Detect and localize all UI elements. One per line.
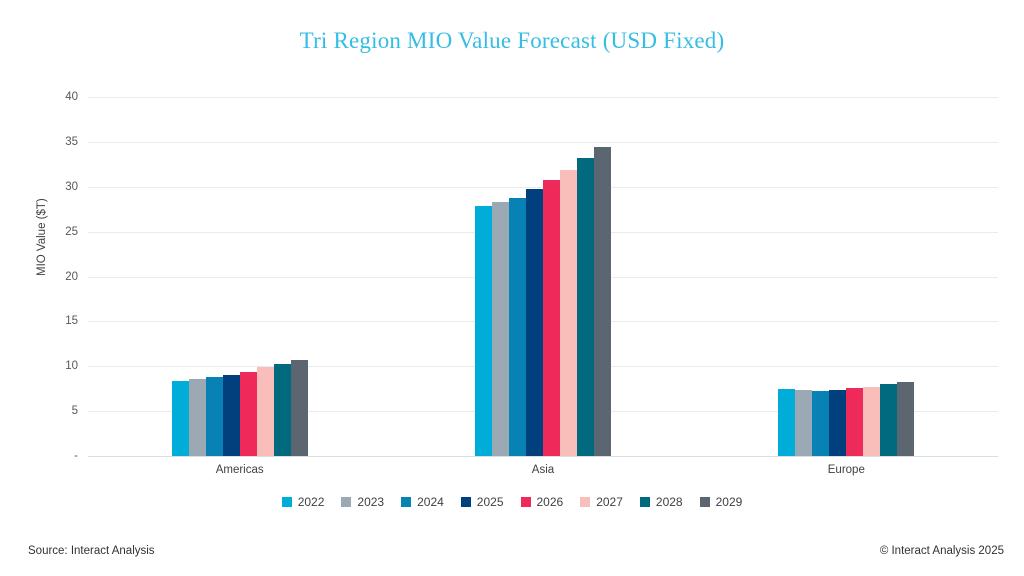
legend-item-2022[interactable]: 2022 (282, 495, 325, 509)
bar-americas-2027[interactable] (257, 367, 274, 456)
y-axis-title: MIO Value ($T) (36, 198, 48, 276)
legend-item-2029[interactable]: 2029 (700, 495, 743, 509)
bar-group-americas: Americas (88, 97, 391, 456)
x-axis-label-europe: Europe (828, 464, 865, 476)
bar-americas-2025[interactable] (223, 375, 240, 456)
bar-asia-2029[interactable] (594, 147, 611, 456)
x-axis-label-asia: Asia (532, 464, 554, 476)
bar-europe-2025[interactable] (829, 390, 846, 456)
legend: 20222023202420252026202720282029 (0, 495, 1024, 509)
legend-swatch-icon (521, 497, 531, 507)
page-title: Tri Region MIO Value Forecast (USD Fixed… (0, 28, 1024, 54)
legend-label: 2029 (716, 495, 743, 509)
bar-americas-2028[interactable] (274, 364, 291, 456)
bar-europe-2027[interactable] (863, 387, 880, 456)
bar-asia-2024[interactable] (509, 198, 526, 456)
y-axis-tick-label: 40 (65, 91, 78, 103)
legend-swatch-icon (700, 497, 710, 507)
bar-asia-2028[interactable] (577, 158, 594, 456)
plot-area: 403530252015105- AmericasAsiaEurope (88, 97, 998, 456)
bar-americas-2022[interactable] (172, 381, 189, 456)
bar-asia-2025[interactable] (526, 189, 543, 456)
y-axis-tick-label: 20 (65, 271, 78, 283)
legend-label: 2023 (357, 495, 384, 509)
legend-swatch-icon (341, 497, 351, 507)
bar-europe-2026[interactable] (846, 388, 863, 456)
bar-americas-2024[interactable] (206, 377, 223, 456)
bar-europe-2028[interactable] (880, 384, 897, 456)
bar-europe-2024[interactable] (812, 391, 829, 456)
legend-label: 2024 (417, 495, 444, 509)
legend-swatch-icon (640, 497, 650, 507)
legend-item-2028[interactable]: 2028 (640, 495, 683, 509)
legend-swatch-icon (580, 497, 590, 507)
bar-europe-2029[interactable] (897, 382, 914, 456)
gridline (88, 456, 998, 457)
bar-americas-2026[interactable] (240, 372, 257, 456)
y-axis-tick-label: 25 (65, 226, 78, 238)
bar-europe-2023[interactable] (795, 390, 812, 456)
bar-asia-2026[interactable] (543, 180, 560, 456)
legend-swatch-icon (401, 497, 411, 507)
bar-americas-2023[interactable] (189, 379, 206, 456)
y-axis-tick-label: 30 (65, 181, 78, 193)
y-axis-tick-label: 35 (65, 136, 78, 148)
legend-item-2025[interactable]: 2025 (461, 495, 504, 509)
legend-label: 2022 (298, 495, 325, 509)
legend-item-2026[interactable]: 2026 (521, 495, 564, 509)
legend-swatch-icon (282, 497, 292, 507)
bar-asia-2023[interactable] (492, 202, 509, 456)
y-axis-tick-label: 15 (65, 315, 78, 327)
legend-item-2024[interactable]: 2024 (401, 495, 444, 509)
bar-group-europe: Europe (695, 97, 998, 456)
legend-label: 2026 (537, 495, 564, 509)
bar-groups: AmericasAsiaEurope (88, 97, 998, 456)
y-axis-tick-label: 10 (65, 360, 78, 372)
y-axis-tick-label: 5 (72, 405, 78, 417)
legend-label: 2028 (656, 495, 683, 509)
x-axis-label-americas: Americas (216, 464, 264, 476)
bar-europe-2022[interactable] (778, 389, 795, 456)
bar-group-asia: Asia (391, 97, 694, 456)
legend-label: 2027 (596, 495, 623, 509)
footer-source: Source: Interact Analysis (28, 545, 155, 557)
legend-label: 2025 (477, 495, 504, 509)
bar-asia-2022[interactable] (475, 206, 492, 456)
legend-swatch-icon (461, 497, 471, 507)
legend-item-2027[interactable]: 2027 (580, 495, 623, 509)
footer-copyright: © Interact Analysis 2025 (880, 545, 1004, 557)
bar-asia-2027[interactable] (560, 170, 577, 456)
y-axis-tick-label: - (74, 450, 78, 462)
legend-item-2023[interactable]: 2023 (341, 495, 384, 509)
bar-americas-2029[interactable] (291, 360, 308, 456)
